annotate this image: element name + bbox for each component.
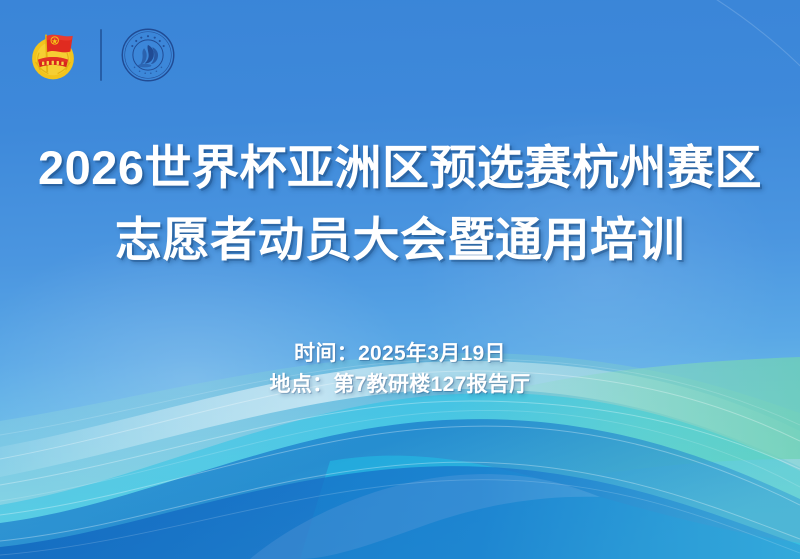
logo-divider [100, 29, 102, 81]
light-bloom-right [340, 40, 800, 520]
communist-youth-league-emblem [24, 26, 82, 84]
header-logos [24, 24, 176, 86]
event-banner: 2026世界杯亚洲区预选赛杭州赛区 志愿者动员大会暨通用培训 时间：2025年3… [0, 0, 800, 559]
event-time: 时间：2025年3月19日 [0, 338, 800, 369]
title-line-1: 2026世界杯亚洲区预选赛杭州赛区 [0, 136, 800, 200]
title-line-2: 志愿者动员大会暨通用培训 [0, 208, 800, 272]
university-seal [120, 27, 176, 83]
title-block: 2026世界杯亚洲区预选赛杭州赛区 志愿者动员大会暨通用培训 [0, 136, 800, 272]
event-details-block: 时间：2025年3月19日 地点：第7教研楼127报告厅 [0, 338, 800, 400]
event-location: 地点：第7教研楼127报告厅 [0, 369, 800, 400]
